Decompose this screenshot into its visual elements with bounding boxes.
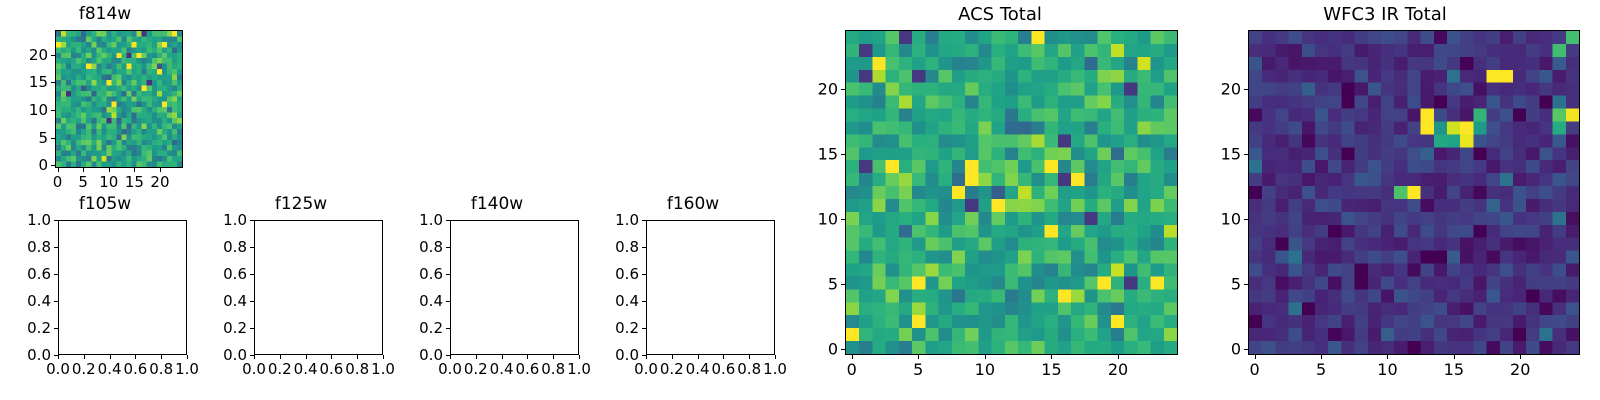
x-axis-tick-label: 10 bbox=[99, 173, 118, 191]
y-axis-tick-label: 0.0 bbox=[196, 346, 247, 364]
y-axis-tick bbox=[51, 165, 55, 166]
y-axis-tick-label: 0.4 bbox=[392, 292, 443, 310]
f160w-empty-plot-area bbox=[647, 221, 774, 354]
y-axis-tick bbox=[446, 274, 450, 275]
y-axis-tick bbox=[54, 220, 58, 221]
panel-acs-total: ACS Total 0510152005101520 bbox=[810, 0, 1190, 400]
y-axis-tick bbox=[446, 301, 450, 302]
x-axis-tick bbox=[280, 355, 281, 359]
x-axis-tick bbox=[83, 168, 84, 172]
y-axis-tick-label: 1.0 bbox=[196, 211, 247, 229]
x-axis-tick-label: 0.6 bbox=[711, 360, 735, 378]
y-axis-tick bbox=[1244, 219, 1248, 220]
x-axis-tick-label: 0.4 bbox=[294, 360, 318, 378]
x-axis-tick-label: 0.2 bbox=[464, 360, 488, 378]
x-axis-tick-label: 0.6 bbox=[515, 360, 539, 378]
x-axis-tick-label: 0.4 bbox=[98, 360, 122, 378]
x-axis-tick-label: 0.2 bbox=[268, 360, 292, 378]
x-axis-tick bbox=[58, 168, 59, 172]
y-axis-tick-label: 15 bbox=[810, 144, 838, 163]
x-axis-tick-label: 0 bbox=[847, 360, 857, 379]
y-axis-tick bbox=[250, 328, 254, 329]
x-axis-tick-label: 20 bbox=[1510, 360, 1530, 379]
y-axis-tick-label: 1.0 bbox=[588, 211, 639, 229]
x-axis-tick bbox=[109, 168, 110, 172]
y-axis-tick-label: 0.2 bbox=[196, 319, 247, 337]
y-axis-tick-label: 1.0 bbox=[0, 211, 51, 229]
y-axis-tick-label: 0 bbox=[1190, 339, 1241, 358]
x-axis-tick-label: 15 bbox=[1041, 360, 1061, 379]
x-axis-tick bbox=[110, 355, 111, 359]
y-axis-tick-label: 0.4 bbox=[0, 292, 51, 310]
y-axis-tick-label: 0.2 bbox=[0, 319, 51, 337]
y-axis-tick bbox=[51, 110, 55, 111]
y-axis-tick bbox=[642, 220, 646, 221]
f140w-axes bbox=[450, 220, 579, 355]
y-axis-tick-label: 1.0 bbox=[392, 211, 443, 229]
y-axis-tick-label: 20 bbox=[1190, 79, 1241, 98]
x-axis-tick-label: 5 bbox=[913, 360, 923, 379]
y-axis-tick bbox=[51, 55, 55, 56]
y-axis-tick bbox=[1244, 154, 1248, 155]
x-axis-tick bbox=[187, 355, 188, 359]
y-axis-tick bbox=[250, 355, 254, 356]
y-axis-tick-label: 0.6 bbox=[0, 265, 51, 283]
y-axis-tick-label: 10 bbox=[810, 209, 838, 228]
x-axis-tick bbox=[579, 355, 580, 359]
y-axis-tick bbox=[642, 355, 646, 356]
y-axis-tick-label: 0.6 bbox=[392, 265, 443, 283]
x-axis-tick bbox=[135, 355, 136, 359]
y-axis-tick bbox=[446, 247, 450, 248]
f140w-empty-plot-area bbox=[451, 221, 578, 354]
x-axis-tick-label: 0.8 bbox=[345, 360, 369, 378]
panel-acs-total-title: ACS Total bbox=[810, 4, 1190, 25]
x-axis-tick bbox=[450, 355, 451, 359]
panel-f814w: f814w 0510152005101520 bbox=[0, 0, 210, 190]
x-axis-tick bbox=[160, 168, 161, 172]
y-axis-tick bbox=[250, 301, 254, 302]
x-axis-tick bbox=[357, 355, 358, 359]
y-axis-tick bbox=[54, 355, 58, 356]
y-axis-tick bbox=[642, 301, 646, 302]
panel-f814w-title: f814w bbox=[0, 4, 210, 24]
y-axis-tick-label: 0.4 bbox=[588, 292, 639, 310]
x-axis-tick-label: 0.2 bbox=[72, 360, 96, 378]
x-axis-tick bbox=[749, 355, 750, 359]
y-axis-tick bbox=[250, 220, 254, 221]
y-axis-tick bbox=[250, 247, 254, 248]
y-axis-tick bbox=[841, 349, 845, 350]
y-axis-tick bbox=[51, 82, 55, 83]
x-axis-tick-label: 0.4 bbox=[490, 360, 514, 378]
y-axis-tick-label: 0.8 bbox=[0, 238, 51, 256]
x-axis-tick bbox=[383, 355, 384, 359]
y-axis-tick-label: 0.0 bbox=[588, 346, 639, 364]
x-axis-tick bbox=[1454, 355, 1455, 359]
x-axis-tick-label: 0 bbox=[1250, 360, 1260, 379]
panel-f140w: f140w 0.00.20.40.60.81.00.00.20.40.60.81… bbox=[392, 190, 602, 400]
x-axis-tick bbox=[331, 355, 332, 359]
x-axis-tick bbox=[852, 355, 853, 359]
x-axis-tick bbox=[1387, 355, 1388, 359]
f125w-axes bbox=[254, 220, 383, 355]
y-axis-tick-label: 0.6 bbox=[588, 265, 639, 283]
x-axis-tick bbox=[1520, 355, 1521, 359]
y-axis-tick-label: 10 bbox=[0, 101, 48, 119]
y-axis-tick-label: 0 bbox=[810, 339, 838, 358]
y-axis-tick bbox=[54, 328, 58, 329]
x-axis-tick bbox=[672, 355, 673, 359]
x-axis-tick-label: 1.0 bbox=[763, 360, 787, 378]
f814w-heatmap-image bbox=[56, 31, 182, 167]
y-axis-tick bbox=[1244, 89, 1248, 90]
y-axis-tick-label: 0.6 bbox=[196, 265, 247, 283]
y-axis-tick-label: 5 bbox=[0, 129, 48, 147]
f105w-axes bbox=[58, 220, 187, 355]
y-axis-tick bbox=[841, 219, 845, 220]
y-axis-tick bbox=[54, 274, 58, 275]
x-axis-tick-label: 0.8 bbox=[149, 360, 173, 378]
y-axis-tick-label: 10 bbox=[1190, 209, 1241, 228]
x-axis-tick bbox=[502, 355, 503, 359]
x-axis-tick bbox=[161, 355, 162, 359]
x-axis-tick bbox=[698, 355, 699, 359]
y-axis-tick-label: 15 bbox=[1190, 144, 1241, 163]
y-axis-tick bbox=[841, 154, 845, 155]
y-axis-tick-label: 0.4 bbox=[196, 292, 247, 310]
x-axis-tick bbox=[306, 355, 307, 359]
y-axis-tick-label: 0.2 bbox=[392, 319, 443, 337]
y-axis-tick-label: 0.0 bbox=[392, 346, 443, 364]
panel-f125w: f125w 0.00.20.40.60.81.00.00.20.40.60.81… bbox=[196, 190, 406, 400]
y-axis-tick-label: 20 bbox=[0, 46, 48, 64]
x-axis-tick-label: 10 bbox=[1377, 360, 1397, 379]
y-axis-tick-label: 0 bbox=[0, 156, 48, 174]
y-axis-tick bbox=[642, 247, 646, 248]
x-axis-tick-label: 20 bbox=[1108, 360, 1128, 379]
y-axis-tick bbox=[446, 220, 450, 221]
panel-wfc3-ir-total: WFC3 IR Total 0510152005101520 bbox=[1190, 0, 1600, 400]
wfc3-ir-total-heatmap-image bbox=[1249, 31, 1579, 354]
x-axis-tick bbox=[1321, 355, 1322, 359]
y-axis-tick bbox=[51, 138, 55, 139]
f125w-empty-plot-area bbox=[255, 221, 382, 354]
x-axis-tick-label: 15 bbox=[1444, 360, 1464, 379]
y-axis-tick bbox=[1244, 349, 1248, 350]
x-axis-tick-label: 0.4 bbox=[686, 360, 710, 378]
y-axis-tick-label: 5 bbox=[810, 274, 838, 293]
y-axis-tick-label: 0.8 bbox=[588, 238, 639, 256]
f160w-axes bbox=[646, 220, 775, 355]
x-axis-tick bbox=[1255, 355, 1256, 359]
y-axis-tick bbox=[841, 89, 845, 90]
x-axis-tick-label: 0.8 bbox=[737, 360, 761, 378]
x-axis-tick bbox=[527, 355, 528, 359]
y-axis-tick bbox=[54, 247, 58, 248]
x-axis-tick bbox=[476, 355, 477, 359]
acs-total-heatmap-image bbox=[846, 31, 1177, 354]
y-axis-tick bbox=[642, 274, 646, 275]
f105w-empty-plot-area bbox=[59, 221, 186, 354]
x-axis-tick bbox=[134, 168, 135, 172]
x-axis-tick-label: 0.6 bbox=[123, 360, 147, 378]
y-axis-tick bbox=[446, 328, 450, 329]
acs-total-axes bbox=[845, 30, 1178, 355]
y-axis-tick-label: 0.8 bbox=[392, 238, 443, 256]
x-axis-tick bbox=[58, 355, 59, 359]
y-axis-tick bbox=[446, 355, 450, 356]
wfc3-ir-total-axes bbox=[1248, 30, 1580, 355]
x-axis-tick bbox=[84, 355, 85, 359]
x-axis-tick bbox=[723, 355, 724, 359]
x-axis-tick-label: 0 bbox=[53, 173, 63, 191]
y-axis-tick-label: 0.2 bbox=[588, 319, 639, 337]
x-axis-tick-label: 20 bbox=[150, 173, 169, 191]
y-axis-tick-label: 0.0 bbox=[0, 346, 51, 364]
y-axis-tick-label: 15 bbox=[0, 73, 48, 91]
f814w-axes bbox=[55, 30, 183, 168]
x-axis-tick bbox=[553, 355, 554, 359]
panel-wfc3-ir-total-title: WFC3 IR Total bbox=[1190, 4, 1580, 25]
matplotlib-figure: f814w 0510152005101520 f105w 0.00.20.40.… bbox=[0, 0, 1600, 400]
y-axis-tick bbox=[841, 284, 845, 285]
x-axis-tick bbox=[775, 355, 776, 359]
x-axis-tick-label: 5 bbox=[1316, 360, 1326, 379]
y-axis-tick-label: 5 bbox=[1190, 274, 1241, 293]
x-axis-tick-label: 15 bbox=[125, 173, 144, 191]
x-axis-tick bbox=[918, 355, 919, 359]
y-axis-tick bbox=[642, 328, 646, 329]
x-axis-tick bbox=[985, 355, 986, 359]
x-axis-tick bbox=[1051, 355, 1052, 359]
y-axis-tick bbox=[1244, 284, 1248, 285]
x-axis-tick-label: 5 bbox=[78, 173, 88, 191]
y-axis-tick-label: 20 bbox=[810, 79, 838, 98]
panel-f160w: f160w 0.00.20.40.60.81.00.00.20.40.60.81… bbox=[588, 190, 798, 400]
panel-f105w: f105w 0.00.20.40.60.81.00.00.20.40.60.81… bbox=[0, 190, 210, 400]
x-axis-tick-label: 0.2 bbox=[660, 360, 684, 378]
x-axis-tick bbox=[1118, 355, 1119, 359]
y-axis-tick-label: 0.8 bbox=[196, 238, 247, 256]
x-axis-tick bbox=[646, 355, 647, 359]
x-axis-tick-label: 0.6 bbox=[319, 360, 343, 378]
y-axis-tick bbox=[54, 301, 58, 302]
x-axis-tick-label: 10 bbox=[975, 360, 995, 379]
x-axis-tick bbox=[254, 355, 255, 359]
y-axis-tick bbox=[250, 274, 254, 275]
x-axis-tick-label: 0.8 bbox=[541, 360, 565, 378]
